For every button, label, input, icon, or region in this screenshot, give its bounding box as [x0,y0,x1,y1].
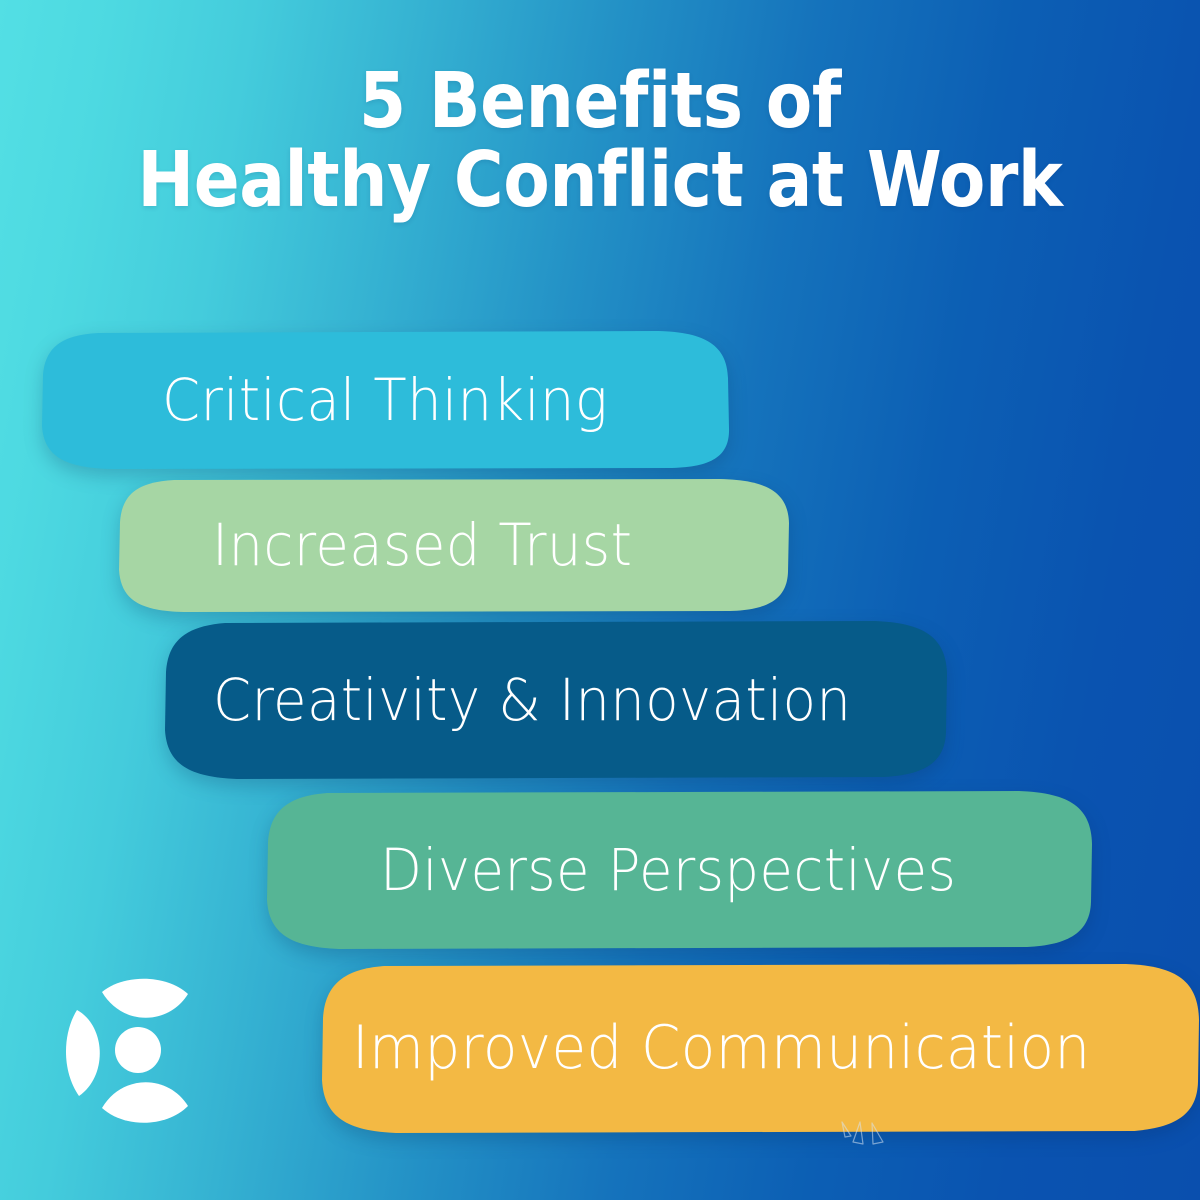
benefit-item-critical-thinking[interactable]: Critical Thinking [40,330,730,470]
corner-watermark-icon [838,1120,908,1165]
benefit-item-creativity-innovation[interactable]: Creativity & Innovation [163,620,948,780]
benefit-item-improved-communication[interactable]: Improved Communication [320,962,1200,1134]
benefit-item-diverse-perspectives[interactable]: Diverse Perspectives [265,790,1093,950]
benefit-label-4: Diverse Perspectives [380,841,956,899]
logo-left-lens-icon [66,1010,100,1096]
poster-canvas: 5 Benefits of Healthy Conflict at Work C… [0,0,1200,1200]
logo-bottom-lens-icon [102,1082,188,1123]
benefit-label-1: Critical Thinking [162,371,608,429]
brand-logo [62,960,212,1140]
logo-top-lens-icon [102,979,188,1018]
benefit-label-5: Improved Communication [352,1018,1090,1078]
benefit-label-2: Increased Trust [212,516,632,574]
logo-center-dot-icon [115,1027,161,1073]
benefit-item-increased-trust[interactable]: Increased Trust [118,478,790,612]
benefit-label-3: Creativity & Innovation [213,671,851,729]
